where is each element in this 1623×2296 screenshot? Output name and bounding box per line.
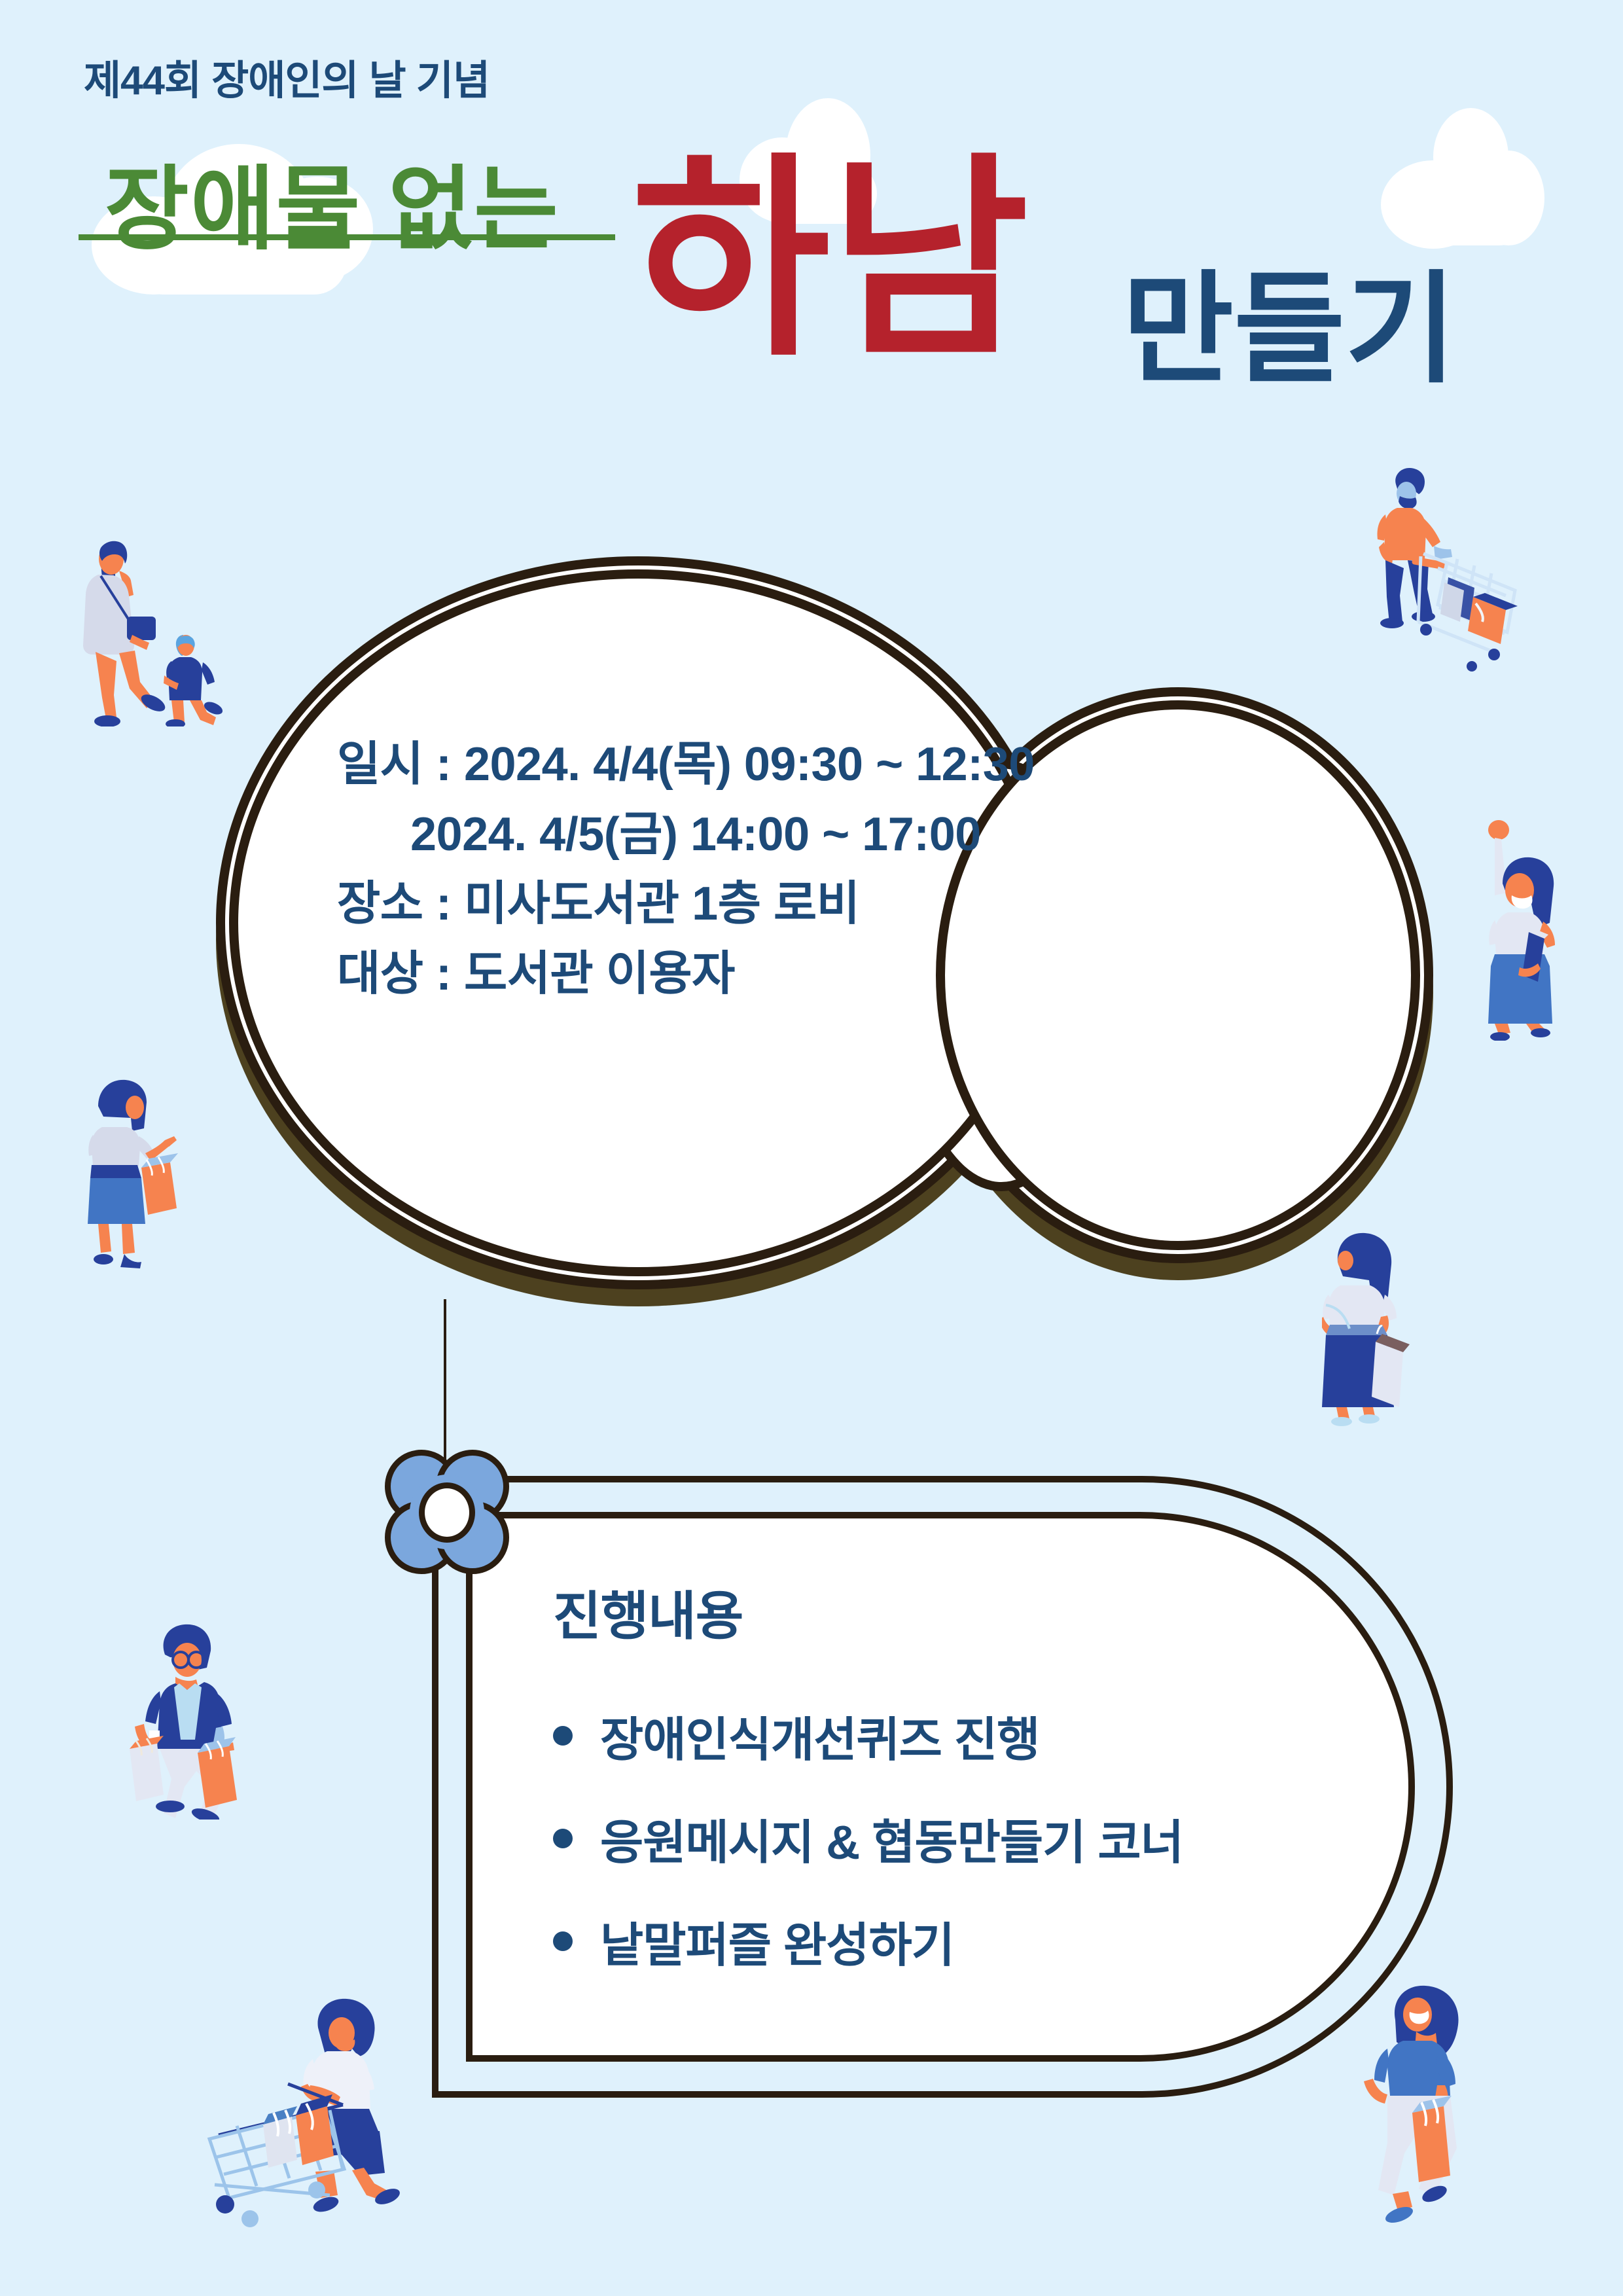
- program-box-inner-left-edge: [466, 1512, 473, 2062]
- poster-canvas: 제44회 장애인의 날 기념 장애물 없는 하남 만들기 일시 : 2024. …: [0, 0, 1623, 2296]
- illustration-man-with-two-bags: [124, 1597, 308, 1820]
- program-item-label: 장애인식개선퀴즈 진행: [600, 1701, 1039, 1770]
- program-heading: 진행내용: [553, 1574, 1430, 1650]
- cloud-top-right: [1381, 108, 1544, 249]
- info-line-datetime-1: 일시 : 2024. 4/4(목) 09:30 ~ 12:30: [337, 730, 1286, 800]
- program-content: 진행내용 장애인식개선퀴즈 진행 응원메시지 & 협동만들기 코너 낱말퍼즐 완…: [553, 1574, 1430, 2009]
- info-line-datetime-2: 2024. 4/5(금) 14:00 ~ 17:00: [337, 800, 1286, 870]
- info-line-location: 장소 : 미사도서관 1층 로비: [337, 869, 1286, 939]
- bullet-dot-icon: [553, 1726, 573, 1746]
- title-main-navy: 만들기: [1122, 270, 1457, 391]
- program-list-item: 응원메시지 & 협동만들기 코너: [553, 1804, 1430, 1873]
- program-list-item: 장애인식개선퀴즈 진행: [553, 1701, 1430, 1770]
- page-kicker: 제44회 장애인의 날 기념: [84, 47, 490, 106]
- title-main-red: 하남: [632, 152, 1029, 368]
- illustration-man-with-shopping-cart: [1345, 458, 1541, 674]
- illustration-woman-pointing: [79, 1073, 209, 1276]
- info-text-block: 일시 : 2024. 4/4(목) 09:30 ~ 12:30 2024. 4/…: [337, 730, 1286, 1009]
- illustration-woman-with-orange-bag: [1361, 1983, 1525, 2232]
- program-list-item: 낱말퍼즐 완성하기: [553, 1907, 1430, 1975]
- illustration-mother-and-child: [72, 530, 249, 726]
- illustration-woman-with-shopping-cart: [190, 1996, 452, 2258]
- title-strikethrough-line: [79, 234, 615, 240]
- illustration-woman-raising-fist: [1472, 818, 1597, 1041]
- flower-decoration-icon: [385, 1450, 509, 1574]
- bullet-dot-icon: [553, 1931, 573, 1951]
- illustration-woman-with-paper-bag: [1322, 1230, 1459, 1427]
- program-item-label: 응원메시지 & 협동만들기 코너: [600, 1804, 1183, 1873]
- info-line-audience: 대상 : 도서관 이용자: [337, 939, 1286, 1009]
- title-green-text: 장애물 없는: [105, 164, 560, 255]
- title-green-group: 장애물 없는: [79, 164, 641, 275]
- bullet-dot-icon: [553, 1829, 573, 1848]
- flower-center-hole: [419, 1482, 475, 1543]
- info-cloud-bubble: 일시 : 2024. 4/4(목) 09:30 ~ 12:30 2024. 4/…: [209, 543, 1440, 1322]
- program-item-label: 낱말퍼즐 완성하기: [600, 1907, 954, 1975]
